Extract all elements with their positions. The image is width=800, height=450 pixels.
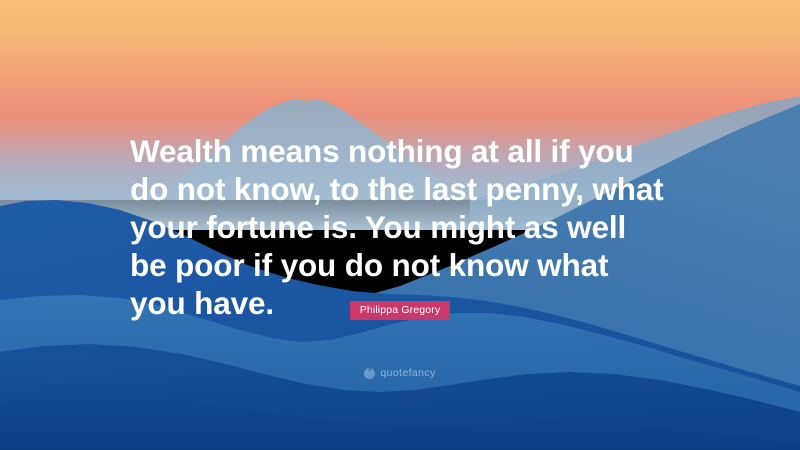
watermark-container: quotefancy	[0, 366, 800, 384]
quote-text: Wealth means nothing at all if you do no…	[130, 132, 670, 322]
quote-container: Wealth means nothing at all if you do no…	[0, 132, 800, 322]
author-name-badge[interactable]: Philippa Gregory	[350, 301, 451, 320]
author-badge-container: Philippa Gregory	[0, 300, 800, 320]
watermark-logo[interactable]: quotefancy	[364, 368, 435, 379]
watermark-label: quotefancy	[380, 368, 435, 379]
quote-poster: Wealth means nothing at all if you do no…	[0, 0, 800, 450]
quote-mark-icon	[364, 368, 375, 379]
